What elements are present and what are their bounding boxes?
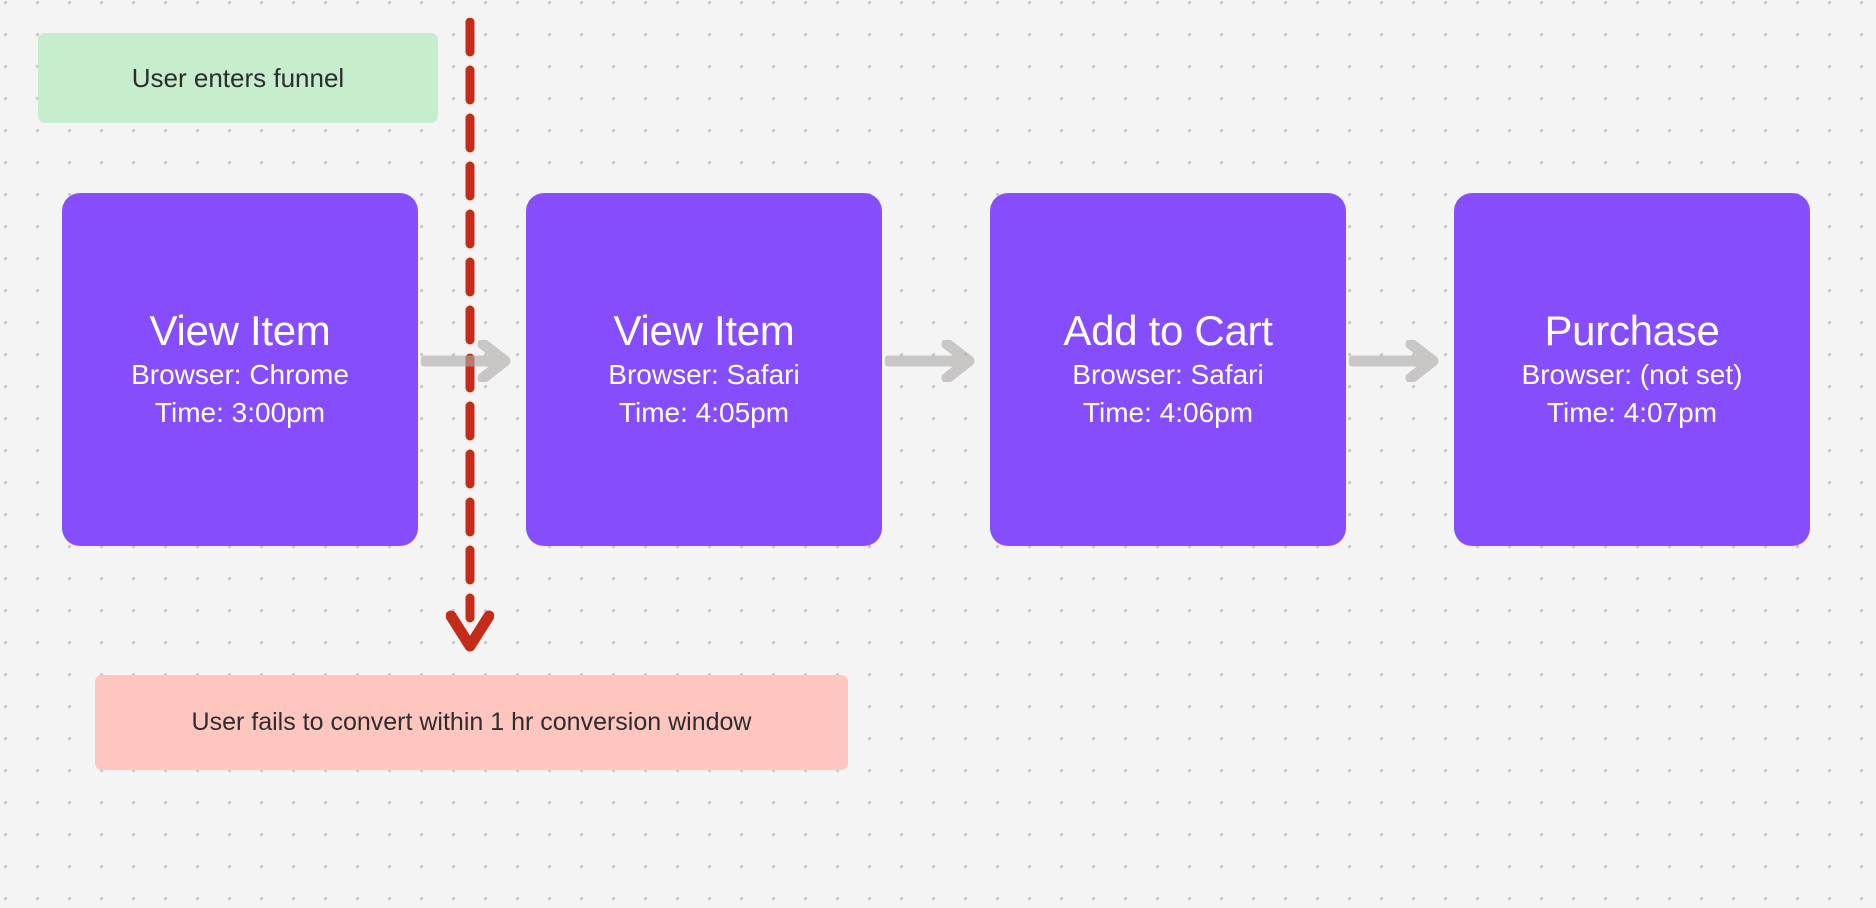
step-time: Time: 3:00pm bbox=[155, 394, 325, 432]
conversion-failure-label: User fails to convert within 1 hr conver… bbox=[192, 708, 752, 737]
step-title: Purchase bbox=[1544, 307, 1719, 354]
diagram-canvas: User enters funnel View Item Browser: Ch… bbox=[0, 0, 1876, 908]
flow-connector-arrow bbox=[885, 340, 979, 382]
step-title: View Item bbox=[150, 307, 331, 354]
conversion-failure-annotation-box: User fails to convert within 1 hr conver… bbox=[95, 675, 848, 770]
flow-connector-arrow bbox=[421, 340, 515, 382]
step-time: Time: 4:05pm bbox=[619, 394, 789, 432]
arrow-right-icon bbox=[885, 340, 979, 382]
funnel-step-card[interactable]: Add to Cart Browser: Safari Time: 4:06pm bbox=[990, 193, 1346, 546]
step-browser: Browser: Safari bbox=[608, 356, 799, 394]
step-browser: Browser: (not set) bbox=[1522, 356, 1743, 394]
funnel-step-card[interactable]: View Item Browser: Safari Time: 4:05pm bbox=[526, 193, 882, 546]
entry-annotation-box: User enters funnel bbox=[38, 33, 438, 123]
entry-annotation-label: User enters funnel bbox=[132, 63, 344, 94]
arrow-right-icon bbox=[1349, 340, 1443, 382]
step-time: Time: 4:06pm bbox=[1083, 394, 1253, 432]
step-title: View Item bbox=[614, 307, 795, 354]
flow-connector-arrow bbox=[1349, 340, 1443, 382]
funnel-step-card[interactable]: View Item Browser: Chrome Time: 3:00pm bbox=[62, 193, 418, 546]
step-browser: Browser: Chrome bbox=[131, 356, 349, 394]
arrow-right-icon bbox=[421, 340, 515, 382]
funnel-step-card[interactable]: Purchase Browser: (not set) Time: 4:07pm bbox=[1454, 193, 1810, 546]
step-browser: Browser: Safari bbox=[1072, 356, 1263, 394]
step-time: Time: 4:07pm bbox=[1547, 394, 1717, 432]
step-title: Add to Cart bbox=[1063, 307, 1272, 354]
